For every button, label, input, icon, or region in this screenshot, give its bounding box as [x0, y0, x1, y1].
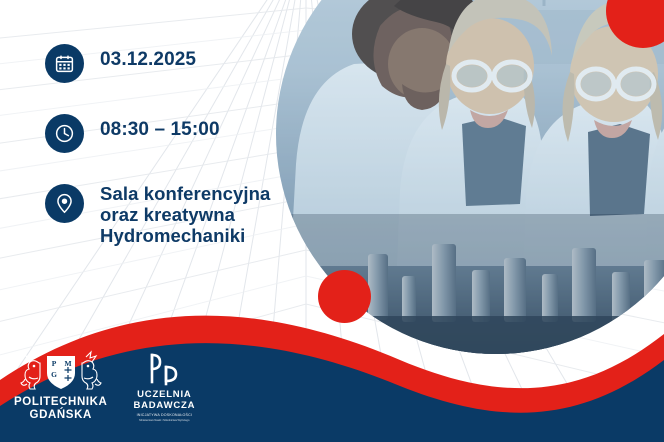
svg-text:M: M	[64, 359, 71, 368]
politechnika-gdanska-logo: P M G POLITECHNIKA GDAŃSKA	[14, 349, 107, 422]
event-location-label: Sala konferencyjna oraz kreatywna Hydrom…	[100, 182, 270, 246]
ub-logo-subtitle: INICJATYWA DOSKONAŁOŚCI	[137, 413, 193, 418]
pg-coat-of-arms-icon: P M G	[17, 349, 105, 393]
clock-icon	[45, 114, 84, 153]
event-date-row: 03.12.2025	[45, 42, 295, 83]
location-pin-icon	[45, 184, 84, 223]
svg-text:G: G	[51, 370, 57, 379]
footer-logos: P M G POLITECHNIKA GDAŃSKA	[14, 349, 195, 422]
svg-text:P: P	[51, 359, 56, 368]
event-details-list: 03.12.2025 08:30 – 15:00 Sala konferency…	[45, 42, 295, 246]
ub-logo-caption: UCZELNIA BADAWCZA	[133, 389, 195, 411]
event-banner: 03.12.2025 08:30 – 15:00 Sala konferency…	[0, 0, 664, 442]
event-date-label: 03.12.2025	[100, 42, 196, 71]
ub-logo-subtitle-ministry: Ministerstwo Nauki i Szkolnictwa Wyższeg…	[139, 419, 189, 422]
pg-logo-caption: POLITECHNIKA GDAŃSKA	[14, 396, 107, 422]
calendar-icon	[45, 44, 84, 83]
event-time-row: 08:30 – 15:00	[45, 112, 295, 153]
event-location-row: Sala konferencyjna oraz kreatywna Hydrom…	[45, 182, 295, 246]
event-time-label: 08:30 – 15:00	[100, 112, 220, 141]
uczelnia-badawcza-logo: UCZELNIA BADAWCZA INICJATYWA DOSKONAŁOŚC…	[133, 351, 195, 422]
ub-mark-icon	[141, 351, 187, 387]
